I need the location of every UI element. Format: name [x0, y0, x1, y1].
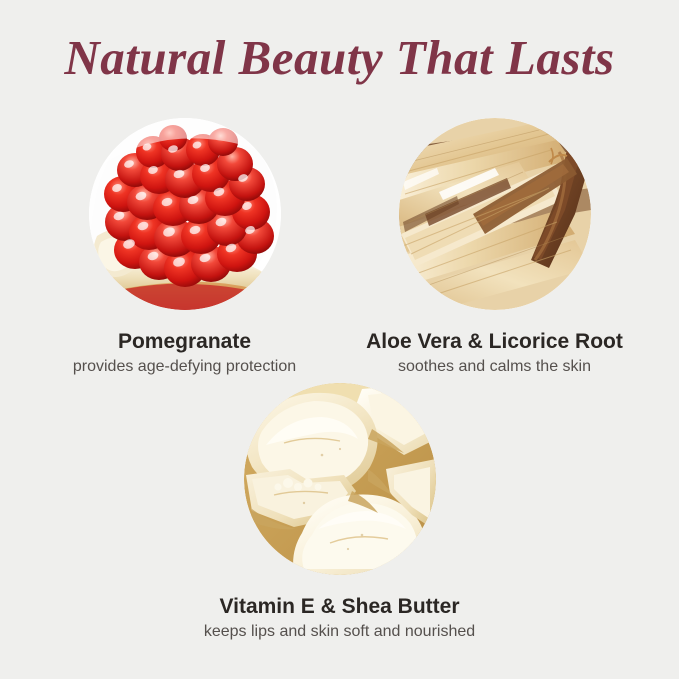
- ingredient-card-pomegranate: Pomegranate provides age-defying protect…: [30, 118, 340, 377]
- ingredient-row-top: Pomegranate provides age-defying protect…: [0, 118, 679, 377]
- shea-butter-chunks-photo: [244, 383, 436, 575]
- licorice-root-slices-photo: [399, 118, 591, 310]
- page-title: Natural Beauty That Lasts: [0, 28, 679, 88]
- ingredient-title: Aloe Vera & Licorice Root: [366, 329, 623, 354]
- ingredient-title: Vitamin E & Shea Butter: [219, 594, 459, 619]
- ingredient-subtitle: keeps lips and skin soft and nourished: [204, 621, 475, 642]
- ingredient-subtitle: soothes and calms the skin: [398, 356, 591, 377]
- ingredient-subtitle: provides age-defying protection: [73, 356, 296, 377]
- ingredient-card-aloe-licorice: Aloe Vera & Licorice Root soothes and ca…: [340, 118, 650, 377]
- ingredient-row-bottom: Vitamin E & Shea Butter keeps lips and s…: [0, 383, 679, 642]
- pomegranate-arils-photo: [89, 118, 281, 310]
- ingredient-card-vitamin-e-shea: Vitamin E & Shea Butter keeps lips and s…: [185, 383, 495, 642]
- ingredients-infographic: Natural Beauty That Lasts: [0, 0, 679, 679]
- ingredient-title: Pomegranate: [118, 329, 251, 354]
